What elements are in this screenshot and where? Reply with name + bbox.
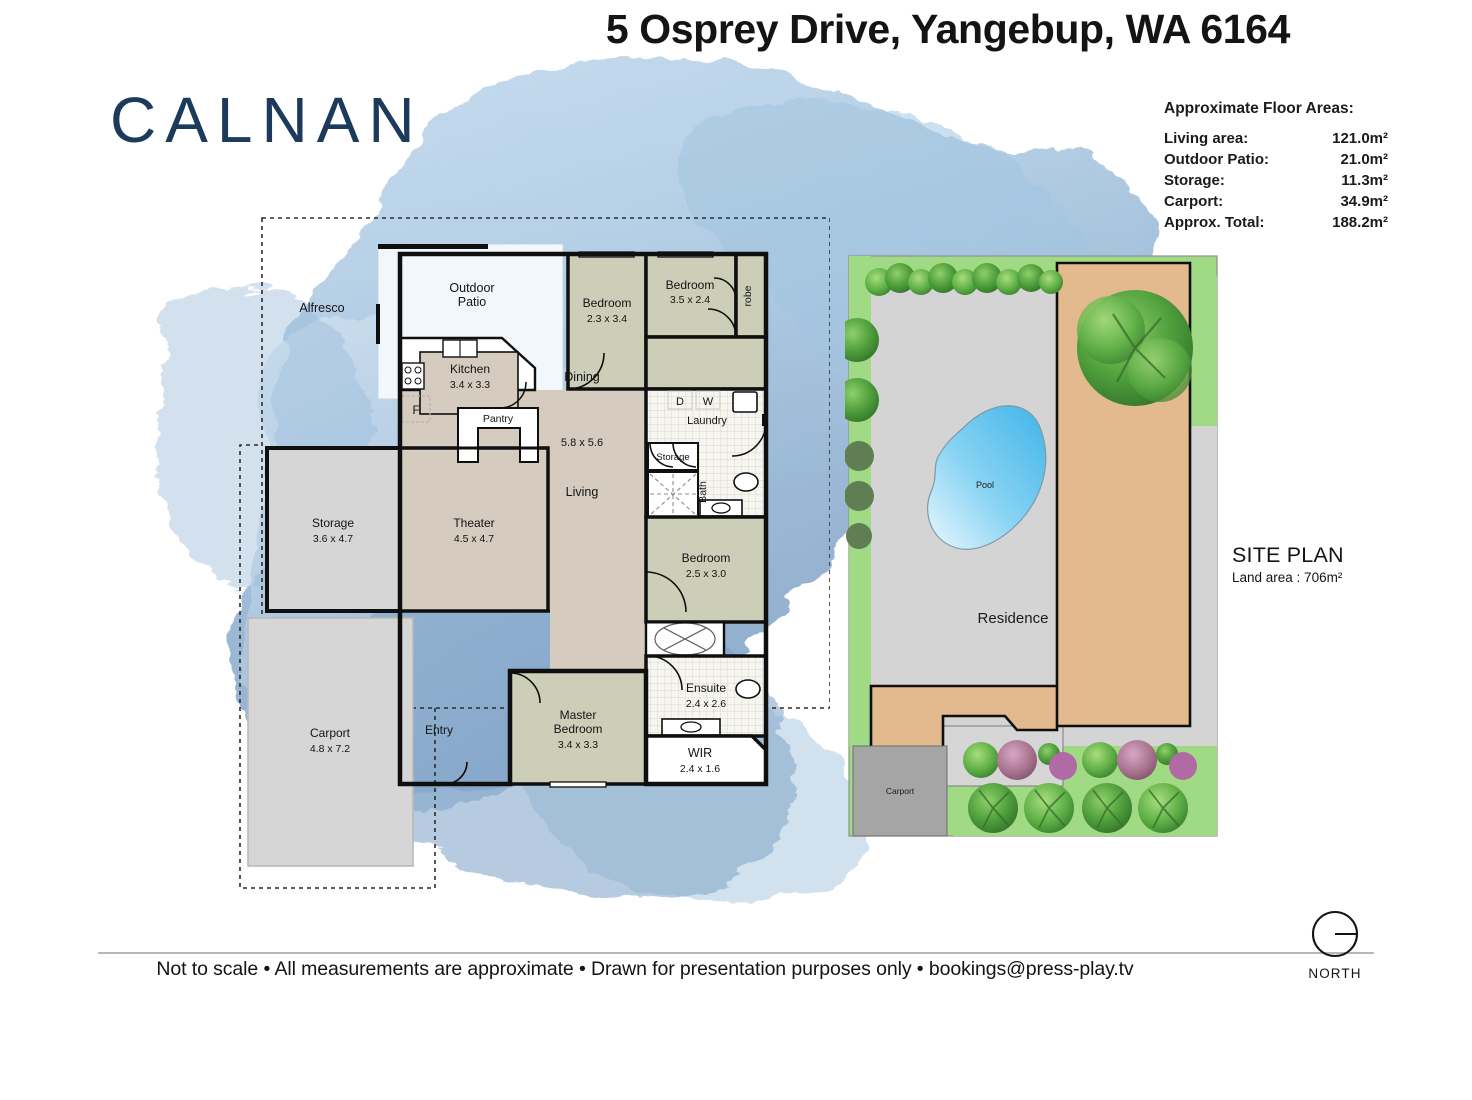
dim-carport: 4.8 x 7.2 xyxy=(310,743,350,755)
area-label-outdoor-patio: Outdoor Patio: xyxy=(1164,150,1269,170)
dim-wir: 2.4 x 1.6 xyxy=(680,763,720,775)
area-row-storage: Storage: 11.3m² xyxy=(1164,171,1388,191)
cooktop xyxy=(402,363,424,389)
area-value-living: 121.0m² xyxy=(1332,129,1388,149)
label-outdoor-patio-l1: Outdoor xyxy=(449,281,494,295)
dim-kitchen: 3.4 x 3.3 xyxy=(450,379,490,391)
label-alfresco: Alfresco xyxy=(299,301,344,315)
label-master-l1: Master xyxy=(560,708,597,722)
label-pantry: Pantry xyxy=(483,413,514,425)
bedroom-3-lower xyxy=(646,337,766,389)
label-site-carport: Carport xyxy=(886,786,915,796)
room-carport xyxy=(248,618,413,866)
brand-logo: CALNAN xyxy=(110,88,424,152)
label-laundry: Laundry xyxy=(687,415,727,427)
label-ensuite: Ensuite xyxy=(686,681,726,695)
title-divider xyxy=(98,952,1374,954)
label-dryer: D xyxy=(676,396,684,408)
area-row-living: Living area: 121.0m² xyxy=(1164,129,1388,149)
entry-wall xyxy=(400,611,510,784)
area-label-carport: Carport: xyxy=(1164,192,1223,212)
label-carport: Carport xyxy=(310,726,351,740)
floorplan-page: CALNAN Approximate Floor Areas: Living a… xyxy=(0,0,1472,1100)
dim-theater: 4.5 x 4.7 xyxy=(454,533,494,545)
label-bedroom-4: Bedroom xyxy=(682,551,731,565)
dim-storage-large: 3.6 x 4.7 xyxy=(313,533,353,545)
site-plan-caption: SITE PLAN Land area : 706m² xyxy=(1232,543,1344,585)
label-master-l2: Bedroom xyxy=(554,722,603,736)
label-robe: robe xyxy=(742,285,754,306)
label-bath: Bath xyxy=(697,481,709,503)
area-row-carport: Carport: 34.9m² xyxy=(1164,192,1388,212)
label-theater: Theater xyxy=(453,516,494,530)
site-plan-drawing: Pool Alfresco Residence Carport xyxy=(845,248,1235,848)
label-outdoor-patio-l2: Patio xyxy=(458,295,487,309)
label-storage-small: Storage xyxy=(656,452,689,463)
door-entry xyxy=(445,762,467,784)
laundry-trough xyxy=(733,392,757,412)
label-wir: WIR xyxy=(688,746,712,760)
label-washer: W xyxy=(703,396,714,408)
label-dining: Dining xyxy=(564,370,599,384)
tree-large-rear xyxy=(1077,290,1193,406)
disclaimer-tagline: Not to scale • All measurements are appr… xyxy=(0,958,1290,981)
property-address: 5 Osprey Drive, Yangebup, WA 6164 xyxy=(606,6,1290,53)
dim-master: 3.4 x 3.3 xyxy=(558,739,598,751)
label-storage-large: Storage xyxy=(312,516,354,530)
label-kitchen: Kitchen xyxy=(450,362,490,376)
label-fridge: F xyxy=(412,405,419,417)
floor-plan-drawing: Alfresco Outdoor Patio Bedroom 2.3 x 3.4… xyxy=(230,200,830,900)
dim-bedroom-4: 2.5 x 3.0 xyxy=(686,568,726,580)
area-value-total: 188.2m² xyxy=(1332,213,1388,233)
dim-ensuite: 2.4 x 2.6 xyxy=(686,698,726,710)
label-bedroom-2: Bedroom xyxy=(583,296,632,310)
area-value-storage: 11.3m² xyxy=(1341,171,1388,191)
site-plan-land-area: Land area : 706m² xyxy=(1232,570,1344,585)
dim-bedroom-3: 3.5 x 2.4 xyxy=(670,294,710,306)
label-pool: Pool xyxy=(976,480,994,490)
north-arrow-icon xyxy=(1309,908,1361,960)
north-label: NORTH xyxy=(1303,966,1367,981)
area-row-outdoor-patio: Outdoor Patio: 21.0m² xyxy=(1164,150,1388,170)
room-wir xyxy=(646,736,766,784)
area-label-storage: Storage: xyxy=(1164,171,1225,191)
toilet-bath xyxy=(734,473,758,491)
toilet-ensuite xyxy=(736,680,760,698)
dim-living: 5.8 x 5.6 xyxy=(561,437,603,449)
dim-bedroom-2: 2.3 x 3.4 xyxy=(587,313,627,325)
area-value-carport: 34.9m² xyxy=(1340,192,1388,212)
label-residence: Residence xyxy=(978,610,1049,627)
area-label-living: Living area: xyxy=(1164,129,1248,149)
area-row-total: Approx. Total: 188.2m² xyxy=(1164,213,1388,233)
floor-areas-panel: Approximate Floor Areas: Living area: 12… xyxy=(1164,100,1388,234)
floor-areas-heading: Approximate Floor Areas: xyxy=(1164,100,1388,118)
label-entry: Entry xyxy=(425,723,453,737)
label-living: Living xyxy=(566,485,599,499)
area-value-outdoor-patio: 21.0m² xyxy=(1340,150,1388,170)
north-indicator: NORTH xyxy=(1303,908,1367,981)
label-bedroom-3: Bedroom xyxy=(666,278,715,292)
area-label-total: Approx. Total: xyxy=(1164,213,1265,233)
site-plan-title: SITE PLAN xyxy=(1232,543,1344,568)
